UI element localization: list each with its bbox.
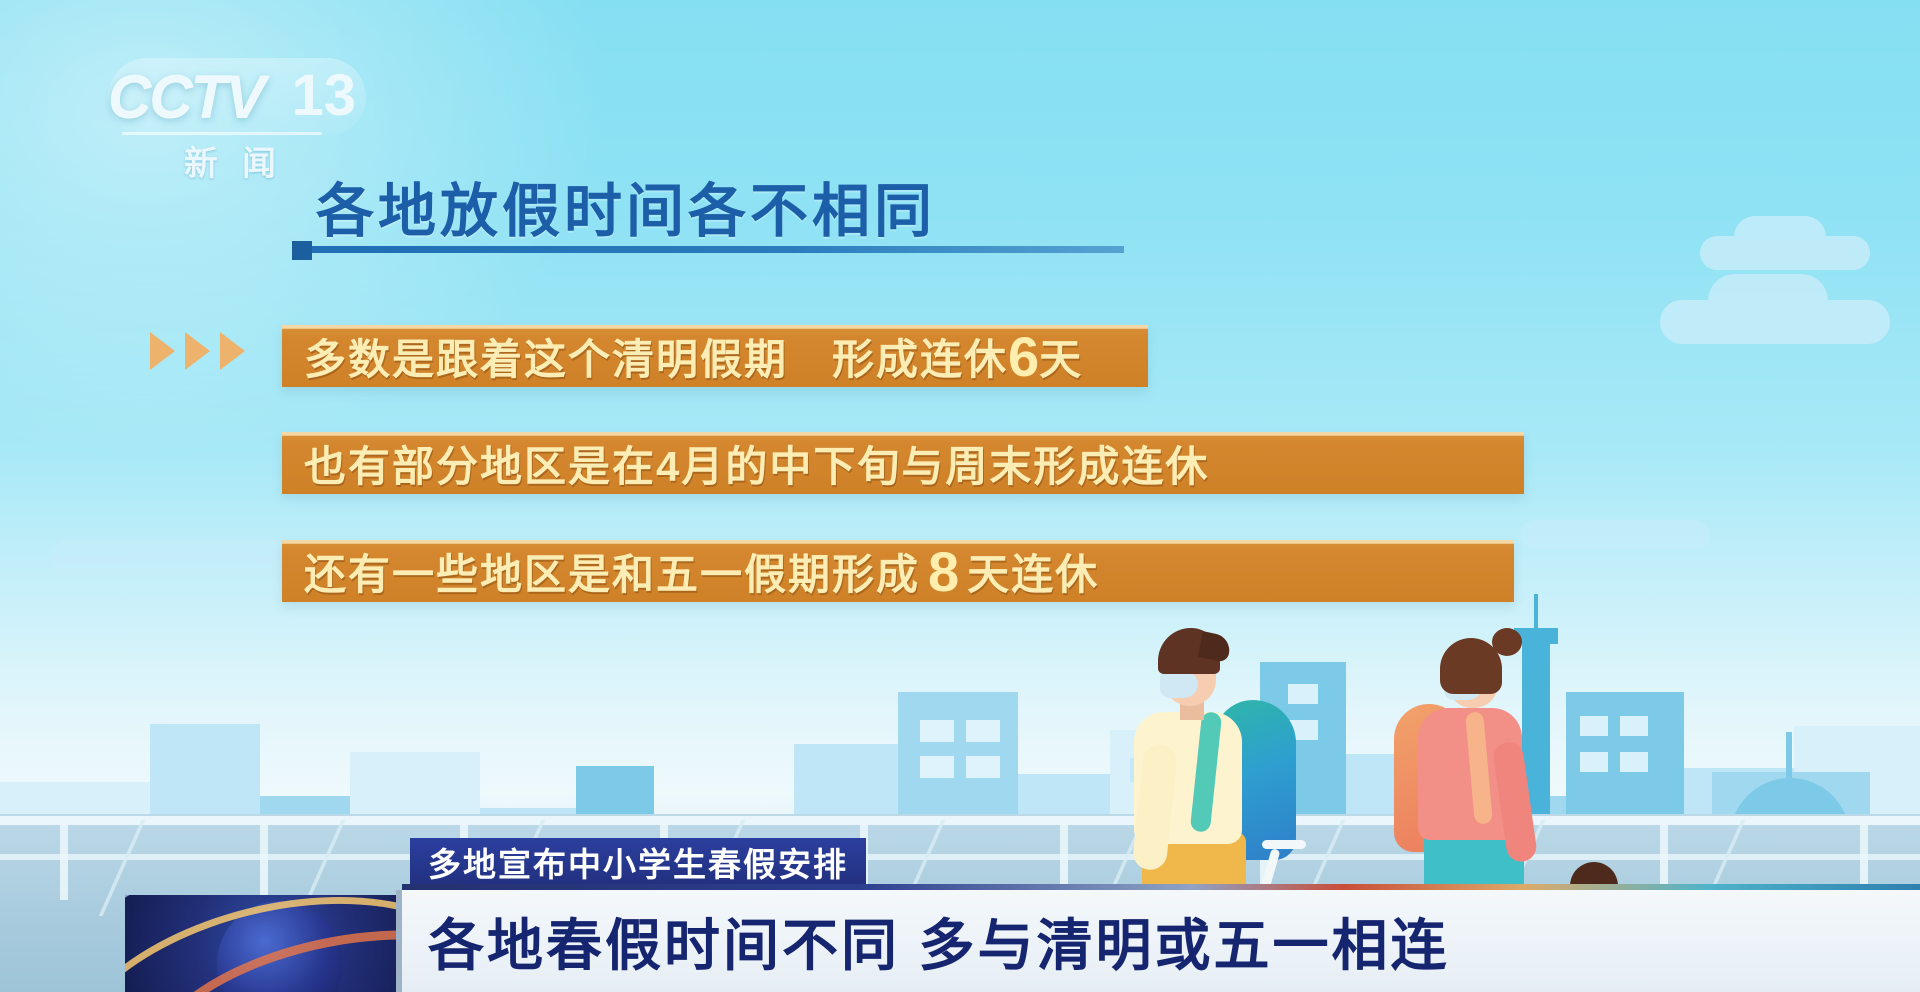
cctv13-channel-logo: CCTV 13 新闻 [108, 58, 366, 178]
lower-third-title-bar: 各地春假时间不同 多与清明或五一相连 [402, 890, 1920, 992]
bullet-number: 6 [1008, 324, 1039, 389]
bullet-text: 还有一些地区是和五一假期形成 [304, 541, 920, 602]
bullet-text-suffix: 天 [1039, 326, 1083, 387]
lower-third-title: 各地春假时间不同 多与清明或五一相连 [428, 901, 1450, 982]
logo-subtitle-news: 新闻 [152, 136, 332, 185]
cctv-news-globe-icon [125, 895, 405, 992]
broadcast-screen: CCTV 13 新闻 各地放假时间各不相同 多数是跟着这个清明假期 形成连休 6… [0, 0, 1920, 992]
bullet-row: 也有部分地区是在4月的中下旬与周末形成连休 [282, 432, 1524, 494]
headline-square-marker [292, 241, 312, 260]
bullet-row: 多数是跟着这个清明假期 形成连休 6 天 [282, 325, 1148, 387]
tv-tower-antenna [1534, 594, 1538, 628]
bullet-number: 8 [920, 539, 967, 604]
dome-spire [1786, 732, 1792, 778]
triangle-right-icon [150, 332, 175, 370]
triangle-right-icon [185, 332, 210, 370]
bullet-row: 还有一些地区是和五一假期形成 8 天连休 [282, 540, 1514, 602]
cloud-shape [1660, 300, 1890, 344]
headline-underline-rule [292, 246, 1124, 253]
bullet-arrows-group [150, 332, 245, 370]
bullet-text: 多数是跟着这个清明假期 形成连休 [304, 326, 1008, 387]
page-title: 各地放假时间各不相同 [316, 164, 936, 248]
bullet-text-suffix: 天连休 [967, 541, 1099, 602]
bullet-text: 也有部分地区是在4月的中下旬与周末形成连休 [304, 433, 1209, 494]
triangle-right-icon [220, 332, 245, 370]
lower-third-subtitle-bar: 多地宣布中小学生春假安排 [410, 838, 866, 886]
logo-underline [122, 132, 322, 135]
logo-channel-number: 13 [291, 62, 356, 129]
lower-third-subtitle: 多地宣布中小学生春假安排 [428, 838, 848, 886]
cloud-shape [1700, 236, 1870, 270]
